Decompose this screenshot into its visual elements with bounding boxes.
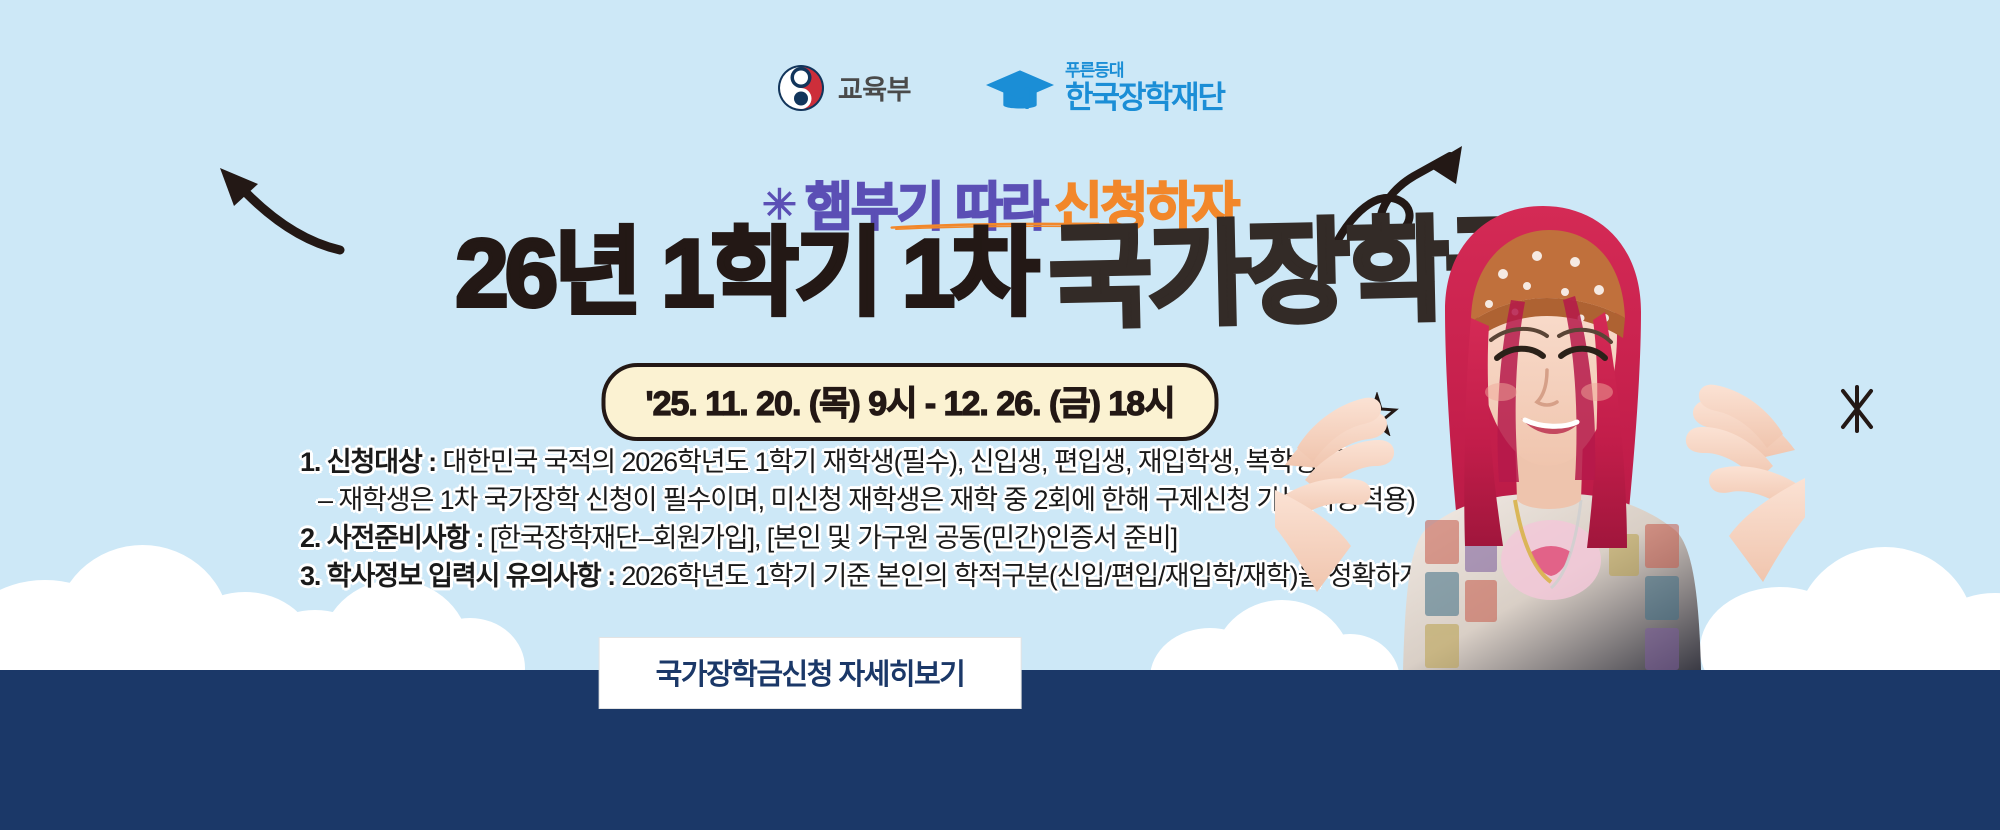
- application-period-text: '25. 11. 20. (목) 9시 - 12. 26. (금) 18시: [645, 385, 1174, 423]
- application-period-badge: '25. 11. 20. (목) 9시 - 12. 26. (금) 18시: [601, 363, 1218, 441]
- left-hand: [1275, 398, 1394, 592]
- more-info-button-label: 국가장학금신청 자세히보기: [656, 659, 965, 691]
- detail-line-text: – 재학생은 1차 국가장학 신청이 필수이며, 미신청 재학생은 재학 중 2…: [318, 485, 1415, 515]
- kosaf-sub-name-label: 푸른등대: [1065, 62, 1224, 79]
- detail-line-label: 3. 학사정보 입력시 유의사항 :: [300, 561, 615, 591]
- ministry-of-education-logo: 교육부: [776, 63, 911, 113]
- kosaf-logo: 푸른등대 한국장학재단: [983, 62, 1224, 113]
- korea-government-taegeuk-icon: [776, 63, 826, 113]
- scholarship-banner: 교육부 푸른등대 한국장학재단 ✳햄부기 따라신청하자 26년 1학기 1차국가…: [0, 0, 2000, 830]
- detail-line-label: 1. 신청대상 :: [300, 447, 436, 477]
- person-posing-photo: [1275, 200, 1805, 670]
- detail-line-label: 2. 사전준비사항 :: [300, 523, 483, 553]
- header-logos: 교육부 푸른등대 한국장학재단: [0, 62, 2000, 113]
- more-info-button[interactable]: 국가장학금신청 자세히보기: [600, 638, 1021, 708]
- sparkle-icon: [1835, 385, 1879, 433]
- detail-line-text: 대한민국 국적의 2026학년도 1학기 재학생(필수), 신입생, 편입생, …: [436, 447, 1347, 477]
- detail-line-text: [한국장학재단–회원가입], [본인 및 가구원 공동(민간)인증서 준비]: [483, 523, 1177, 553]
- right-hand: [1686, 385, 1805, 582]
- headline-part-a: 26년 1학기 1차: [455, 220, 1035, 327]
- graduation-cap-icon: [983, 65, 1057, 113]
- kosaf-name-label: 한국장학재단: [1065, 82, 1224, 113]
- ministry-name-label: 교육부: [838, 68, 911, 107]
